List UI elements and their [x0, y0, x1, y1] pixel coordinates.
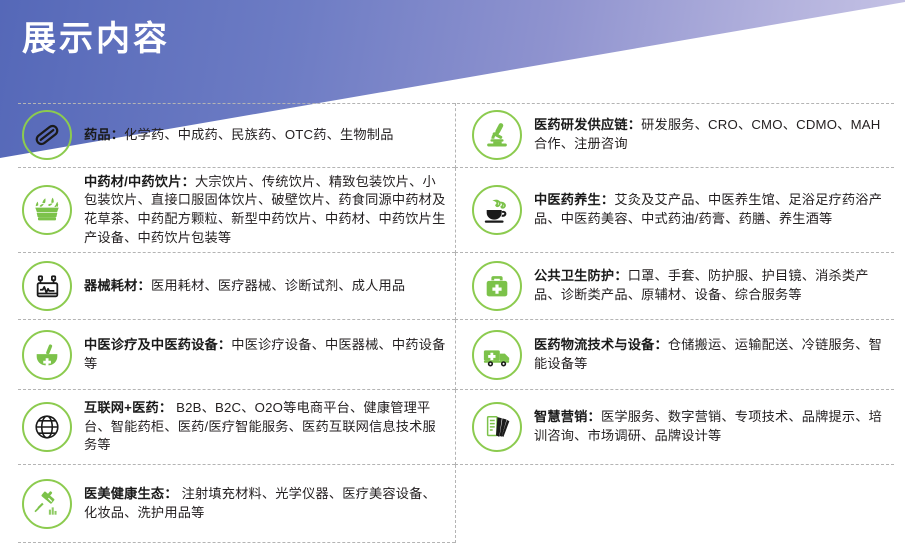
category-label: 医美健康生态：: [84, 486, 178, 501]
category-grid: 药品：化学药、中成药、民族药、OTC药、生物制品 医药研发供: [18, 103, 894, 543]
category-text: 公共卫生防护：口罩、手套、防护服、护目镜、消杀类产品、诊断类产品、原辅材、设备、…: [534, 267, 886, 304]
category-text: 中医诊疗及中医药设备：中医诊疗设备、中医器械、中药设备等: [84, 336, 447, 373]
category-label: 药品：: [84, 127, 124, 142]
category-text: 互联网+医药： B2B、B2C、O2O等电商平台、健康管理平台、智能药柜、医药/…: [84, 399, 447, 455]
category-item-3[interactable]: 中医药养生：艾灸及艾产品、中医养生馆、足浴足疗药浴产品、中医药美容、中式药油/药…: [455, 168, 894, 253]
category-item-4[interactable]: 器械耗材：医用耗材、医疗器械、诊断试剂、成人用品: [18, 253, 455, 320]
category-label: 医药物流技术与设备：: [534, 337, 668, 352]
category-item-7[interactable]: 医药物流技术与设备：仓储搬运、运输配送、冷链服务、智能设备等: [455, 320, 894, 390]
category-item-5[interactable]: 公共卫生防护：口罩、手套、防护服、护目镜、消杀类产品、诊断类产品、原辅材、设备、…: [455, 253, 894, 320]
category-body: 医用耗材、医疗器械、诊断试剂、成人用品: [151, 278, 405, 293]
microscope-icon: [472, 110, 522, 160]
herb-crown-icon: [22, 185, 72, 235]
category-label: 智慧营销：: [534, 409, 601, 424]
mortar-pestle-icon: [22, 330, 72, 380]
syringe-icon: [22, 479, 72, 529]
category-item-9[interactable]: 智慧营销：医学服务、数字营销、专项技术、品牌提示、培训咨询、市场调研、品牌设计等: [455, 390, 894, 465]
pill-capsule-icon: [22, 110, 72, 160]
category-label: 公共卫生防护：: [534, 268, 628, 283]
category-text: 医药研发供应链：研发服务、CRO、CMO、CDMO、MAH合作、注册咨询: [534, 116, 886, 153]
teacup-steam-icon: [472, 185, 522, 235]
category-item-1[interactable]: 医药研发供应链：研发服务、CRO、CMO、CDMO、MAH合作、注册咨询: [455, 103, 894, 168]
slide-root: 展示内容 药品：化学药、中成药、民族药、OTC药、生物制品: [0, 0, 905, 548]
category-text: 中医药养生：艾灸及艾产品、中医养生馆、足浴足疗药浴产品、中医药美容、中式药油/药…: [534, 191, 886, 228]
page-title: 展示内容: [22, 18, 170, 61]
category-text: 中药材/中药饮片：大宗饮片、传统饮片、精致包装饮片、小包装饮片、直接口服固体饮片…: [84, 173, 447, 248]
globe-icon: [22, 402, 72, 452]
category-text: 器械耗材：医用耗材、医疗器械、诊断试剂、成人用品: [84, 277, 405, 296]
category-item-6[interactable]: 中医诊疗及中医药设备：中医诊疗设备、中医器械、中药设备等: [18, 320, 455, 390]
category-item-8[interactable]: 互联网+医药： B2B、B2C、O2O等电商平台、健康管理平台、智能药柜、医药/…: [18, 390, 455, 465]
category-label: 互联网+医药：: [84, 400, 172, 415]
ambulance-icon: [472, 330, 522, 380]
category-label: 中药材/中药饮片：: [84, 174, 195, 189]
category-text: 智慧营销：医学服务、数字营销、专项技术、品牌提示、培训咨询、市场调研、品牌设计等: [534, 408, 886, 445]
category-label: 医药研发供应链：: [534, 117, 641, 132]
marketing-megaphone-icon: [472, 402, 522, 452]
category-body: 化学药、中成药、民族药、OTC药、生物制品: [124, 127, 393, 142]
patient-monitor-icon: [22, 261, 72, 311]
category-text: 医药物流技术与设备：仓储搬运、运输配送、冷链服务、智能设备等: [534, 336, 886, 373]
first-aid-kit-icon: [472, 261, 522, 311]
category-item-empty: [455, 465, 894, 543]
category-item-0[interactable]: 药品：化学药、中成药、民族药、OTC药、生物制品: [18, 103, 455, 168]
category-label: 中医诊疗及中医药设备：: [84, 337, 231, 352]
category-item-10[interactable]: 医美健康生态： 注射填充材料、光学仪器、医疗美容设备、化妆品、洗护用品等: [18, 465, 455, 543]
category-text: 医美健康生态： 注射填充材料、光学仪器、医疗美容设备、化妆品、洗护用品等: [84, 485, 447, 522]
category-label: 器械耗材：: [84, 278, 151, 293]
category-text: 药品：化学药、中成药、民族药、OTC药、生物制品: [84, 126, 394, 145]
category-item-2[interactable]: 中药材/中药饮片：大宗饮片、传统饮片、精致包装饮片、小包装饮片、直接口服固体饮片…: [18, 168, 455, 253]
category-label: 中医药养生：: [534, 192, 614, 207]
